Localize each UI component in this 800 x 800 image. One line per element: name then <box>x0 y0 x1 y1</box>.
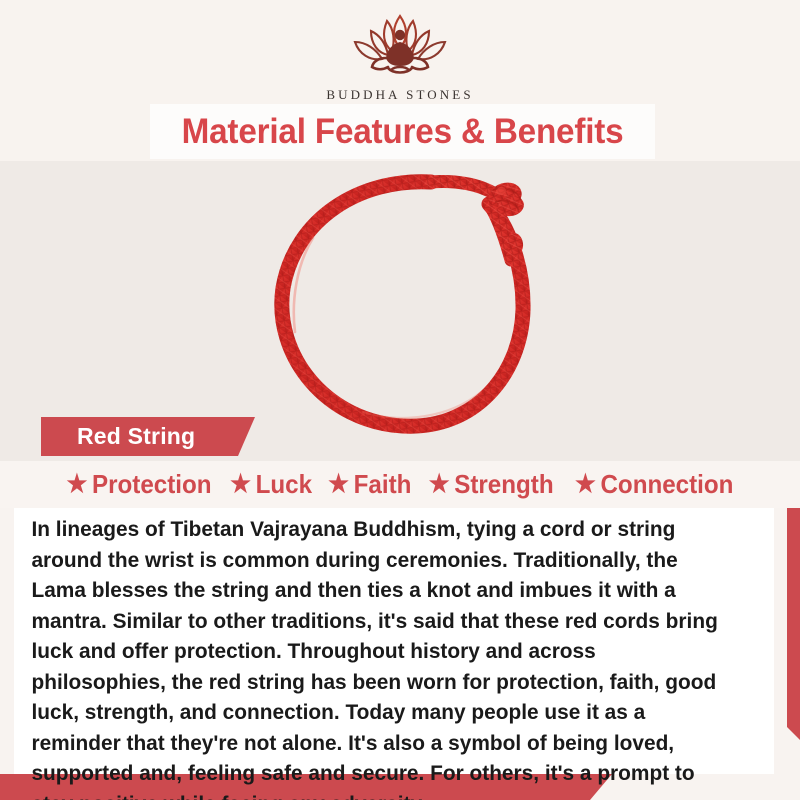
description-panel: In lineages of Tibetan Vajrayana Buddhis… <box>14 508 774 774</box>
benefit-label: Faith <box>354 469 412 500</box>
star-icon: ★ <box>66 472 87 497</box>
brand-name: BUDDHA STONES <box>326 87 473 103</box>
benefit-label: Strength <box>455 469 554 500</box>
benefit-item: ★ Connection <box>572 469 736 500</box>
benefits-list: ★ Protection ★ Luck ★ Faith ★ Strength ★… <box>0 461 800 508</box>
product-image-red-string-bracelet <box>243 160 573 450</box>
benefit-item: ★ Luck <box>227 469 315 500</box>
page-title-banner: Material Features & Benefits <box>150 104 655 159</box>
star-icon: ★ <box>328 472 349 497</box>
infographic-page: BUDDHA STONES Material Features & Benefi… <box>0 0 800 800</box>
benefit-label: Connection <box>600 469 733 500</box>
star-icon: ★ <box>575 472 596 497</box>
page-title: Material Features & Benefits <box>182 112 624 152</box>
brand-header: BUDDHA STONES <box>0 0 800 104</box>
benefit-item: ★ Faith <box>325 469 414 500</box>
description-text: In lineages of Tibetan Vajrayana Buddhis… <box>14 514 751 800</box>
product-name-label: Red String <box>77 423 195 450</box>
benefit-label: Protection <box>92 469 212 500</box>
product-name-banner: Red String <box>41 417 255 456</box>
lotus-meditation-figure-icon <box>325 8 475 85</box>
benefit-item: ★ Strength <box>426 469 556 500</box>
benefit-item: ★ Protection <box>63 469 214 500</box>
star-icon: ★ <box>230 472 251 497</box>
benefit-label: Luck <box>255 469 311 500</box>
star-icon: ★ <box>429 472 450 497</box>
